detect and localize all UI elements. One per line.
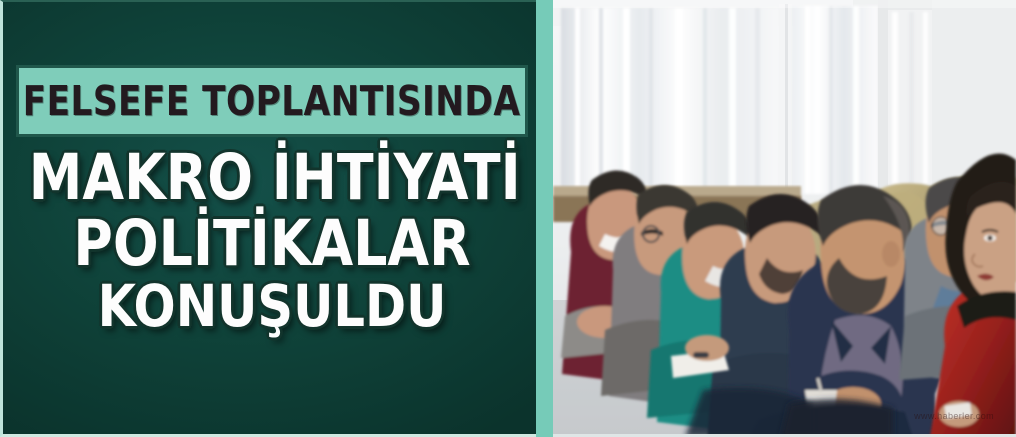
kicker-text: FELSEFE TOPLANTISINDA xyxy=(23,81,521,122)
photo-watermark: www.haberler.com xyxy=(914,411,994,421)
headline-panel: FELSEFE TOPLANTISINDA MAKRO İHTİYATİ POL… xyxy=(0,0,536,437)
headline-line-2: POLİTİKALAR xyxy=(29,213,515,275)
headline-line-1: MAKRO İHTİYATİ xyxy=(29,147,515,209)
meeting-photo: www.haberler.com xyxy=(553,0,1016,437)
meeting-photo-illustration xyxy=(553,0,1016,437)
headline-line-3: KONUŞULDU xyxy=(29,278,515,335)
news-banner-image: FELSEFE TOPLANTISINDA MAKRO İHTİYATİ POL… xyxy=(0,0,1016,437)
mint-divider-strip xyxy=(536,0,553,437)
kicker-banner-box: FELSEFE TOPLANTISINDA xyxy=(16,65,528,137)
page-title: MAKRO İHTİYATİ POLİTİKALAR KONUŞULDU xyxy=(16,147,528,339)
